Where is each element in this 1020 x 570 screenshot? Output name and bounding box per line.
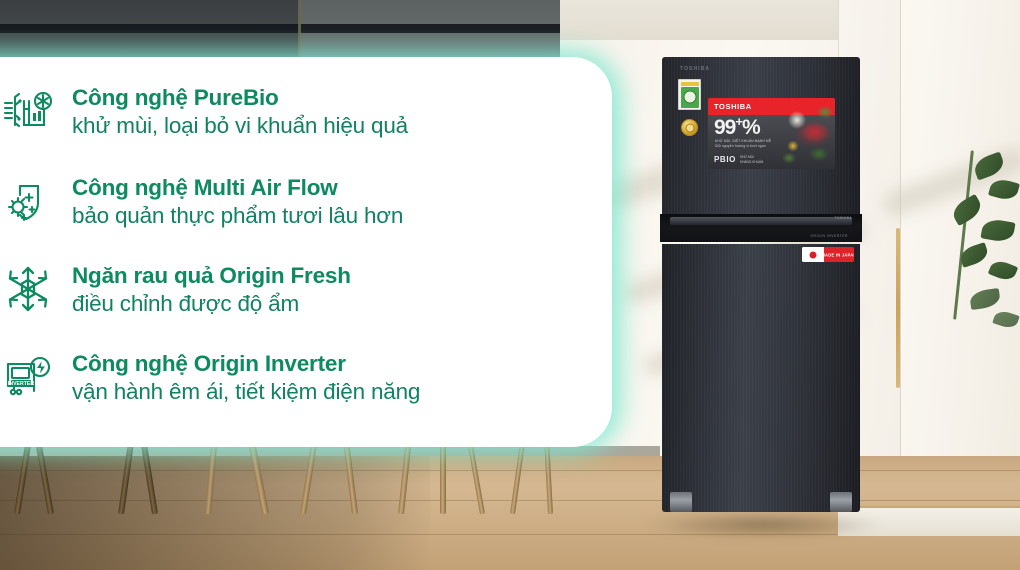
sticker-plus: + bbox=[735, 114, 742, 129]
sticker-line-1: KHỬ MÙI, DIỆT KHUẨN MẠNH MẼ bbox=[715, 139, 771, 143]
sticker-headline: 99+% bbox=[714, 115, 760, 138]
plant-leaf bbox=[980, 217, 1015, 243]
brushed-texture bbox=[662, 244, 860, 512]
feature-item-purebio[interactable]: Công nghệ PureBio khử mùi, loại bỏ vi kh… bbox=[0, 83, 408, 139]
feature-title: Công nghệ PureBio bbox=[72, 85, 408, 112]
leveling-foot-right bbox=[830, 492, 852, 512]
sticker-purebio-logo: PBIO KHỬ MÙI KHÁNG KHUẨN bbox=[714, 155, 763, 164]
handle-strip-text: TOSHIBA bbox=[834, 216, 852, 220]
plant-leaf bbox=[969, 288, 1001, 310]
feature-item-multi-air-flow[interactable]: Công nghệ Multi Air Flow bảo quản thực p… bbox=[0, 173, 403, 229]
sticker-number: 99 bbox=[714, 116, 735, 139]
feature-title: Công nghệ Origin Inverter bbox=[72, 351, 420, 378]
purebio-door-sticker: TOSHIBA 99+% KHỬ MÙI, DIỆT KHUẨN MẠNH MẼ… bbox=[708, 98, 835, 169]
feature-text-origin-fresh: Ngăn rau quả Origin Fresh điều chỉnh đượ… bbox=[72, 261, 351, 317]
feature-text-purebio: Công nghệ PureBio khử mùi, loại bỏ vi kh… bbox=[72, 83, 408, 139]
energy-label-header bbox=[681, 82, 699, 86]
svg-text:INVERTER: INVERTER bbox=[8, 381, 34, 387]
plant-leaf bbox=[971, 151, 1006, 180]
logo-sub-2: KHÁNG KHUẨN bbox=[740, 160, 763, 164]
japan-text-block: MADE IN JAPAN bbox=[824, 247, 854, 262]
feature-list: Công nghệ PureBio khử mùi, loại bỏ vi kh… bbox=[0, 57, 612, 447]
freezer-door: TOSHIBA TOSHIBA 99+% KHỬ MÙI, DIỆT KHUẨN… bbox=[662, 57, 860, 214]
refrigerator-product-image: TOSHIBA TOSHIBA 99+% KHỬ MÙI, DIỆT KHUẨN… bbox=[658, 57, 864, 534]
sticker-brand-text: TOSHIBA bbox=[714, 102, 752, 111]
gold-award-badge bbox=[681, 119, 698, 136]
door-gap-handle-strip: TOSHIBA ORIGIN INVERTER bbox=[660, 214, 862, 242]
inverter-label-text: ORIGIN INVERTER bbox=[810, 234, 848, 238]
plant-leaf bbox=[988, 258, 1018, 284]
energy-rating-label bbox=[678, 79, 701, 110]
purebio-logo-text: PBIO bbox=[714, 155, 736, 164]
sticker-line-2: Giữ nguyên hương vị tươi ngon bbox=[715, 144, 766, 148]
made-in-japan-sticker: MADE IN JAPAN bbox=[802, 247, 854, 262]
sticker-percent: % bbox=[742, 116, 760, 139]
freezer-handle bbox=[670, 217, 852, 225]
feature-subtitle: điều chỉnh được độ ẩm bbox=[72, 290, 351, 317]
feature-text-multi-air-flow: Công nghệ Multi Air Flow bảo quản thực p… bbox=[72, 173, 403, 229]
purebio-logo-sub: KHỬ MÙI KHÁNG KHUẨN bbox=[740, 155, 763, 164]
badge-inner bbox=[685, 123, 694, 132]
sticker-food-photo bbox=[779, 98, 835, 169]
shield-germ-icon bbox=[0, 173, 56, 229]
energy-star-circle bbox=[683, 91, 696, 104]
plant-leaf bbox=[949, 194, 985, 226]
energy-label-body bbox=[681, 87, 699, 108]
window-frame-horizontal bbox=[0, 24, 560, 33]
feature-title: Công nghệ Multi Air Flow bbox=[72, 175, 403, 202]
feature-item-origin-inverter[interactable]: INVERTER Công nghệ Origin Inverter vận h… bbox=[0, 349, 420, 405]
feature-panel: Công nghệ PureBio khử mùi, loại bỏ vi kh… bbox=[0, 57, 612, 447]
product-shadow bbox=[642, 512, 886, 538]
japan-badge-text: MADE IN JAPAN bbox=[821, 252, 854, 257]
feature-text-origin-inverter: Công nghệ Origin Inverter vận hành êm ái… bbox=[72, 349, 420, 405]
brand-logo-emboss: TOSHIBA bbox=[680, 66, 710, 72]
feature-title: Ngăn rau quả Origin Fresh bbox=[72, 263, 351, 290]
fridge-airflow-snowflake-icon bbox=[0, 83, 56, 139]
fridge-door bbox=[662, 244, 860, 512]
plant-stem bbox=[953, 150, 974, 319]
plant-leaf bbox=[988, 177, 1020, 203]
screenshot-canvas: TOSHIBA TOSHIBA 99+% KHỬ MÙI, DIỆT KHUẨN… bbox=[0, 0, 1020, 570]
feature-subtitle: bảo quản thực phẩm tươi lâu hơn bbox=[72, 202, 403, 229]
inverter-icon: INVERTER bbox=[0, 349, 56, 405]
feature-subtitle: khử mùi, loại bỏ vi khuẩn hiệu quả bbox=[72, 112, 408, 139]
floor-shadow bbox=[0, 456, 430, 570]
house-plant bbox=[890, 150, 1020, 410]
snowflake-icon bbox=[0, 261, 56, 317]
leveling-foot-left bbox=[670, 492, 692, 512]
plant-leaf bbox=[992, 309, 1019, 331]
feature-subtitle: vận hành êm ái, tiết kiệm điện năng bbox=[72, 378, 420, 405]
feature-item-origin-fresh[interactable]: Ngăn rau quả Origin Fresh điều chỉnh đượ… bbox=[0, 261, 351, 317]
